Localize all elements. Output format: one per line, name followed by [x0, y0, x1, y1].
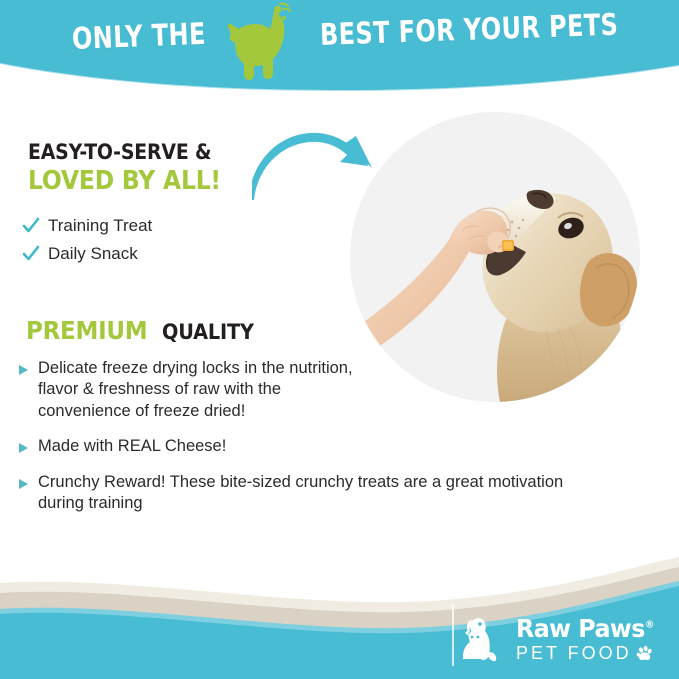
check-list: Training Treat Daily Snack [22, 212, 302, 268]
quality-word: QUALITY [162, 320, 254, 344]
header-banner: ONLY THE BEST FOR YOUR PETS [0, 0, 679, 96]
check-label: Training Treat [48, 217, 152, 236]
brand-name-text: Raw Paws [516, 614, 645, 643]
bullet-text: Made with REAL Cheese! [38, 436, 226, 457]
loved-by-all-line2: LOVED BY ALL! [28, 166, 271, 196]
triangle-bullet-icon [18, 364, 29, 376]
triangle-bullet-icon [18, 442, 29, 454]
bullet-text: Crunchy Reward! These bite-sized crunchy… [38, 472, 598, 515]
brand-name: Raw Paws® [516, 616, 654, 641]
paw-print-icon [636, 645, 653, 662]
promo-graphic-page: ONLY THE BEST FOR YOUR PETS EASY-TO-SERV… [0, 0, 679, 679]
check-icon [22, 245, 40, 263]
list-item: Made with REAL Cheese! [18, 436, 618, 457]
bullet-text: Delicate freeze drying locks in the nutr… [38, 358, 368, 422]
premium-quality-heading: PREMIUMQUALITY [26, 316, 262, 345]
easy-to-serve-line1: EASY-TO-SERVE & [28, 140, 271, 164]
dog-and-cat-silhouette-icon [455, 613, 507, 665]
check-label: Daily Snack [48, 245, 138, 264]
brand-logo: Raw Paws® PET FOOD [455, 608, 670, 670]
feature-bullet-list: Delicate freeze drying locks in the nutr… [18, 358, 618, 529]
registered-mark: ® [645, 620, 654, 631]
brand-text: Raw Paws® PET FOOD [516, 616, 661, 662]
header-title-left: ONLY THE [71, 17, 206, 57]
list-item: Daily Snack [22, 240, 302, 268]
premium-word: PREMIUM [26, 316, 147, 345]
list-item: Delicate freeze drying locks in the nutr… [18, 358, 618, 422]
logo-divider [452, 604, 454, 666]
triangle-bullet-icon [18, 478, 29, 490]
check-icon [22, 217, 40, 235]
brand-tagline-text: PET FOOD [516, 644, 632, 662]
list-item: Training Treat [22, 212, 302, 240]
list-item: Crunchy Reward! These bite-sized crunchy… [18, 472, 618, 515]
brand-tagline: PET FOOD [516, 644, 661, 662]
green-cat-silhouette-icon [228, 2, 302, 88]
